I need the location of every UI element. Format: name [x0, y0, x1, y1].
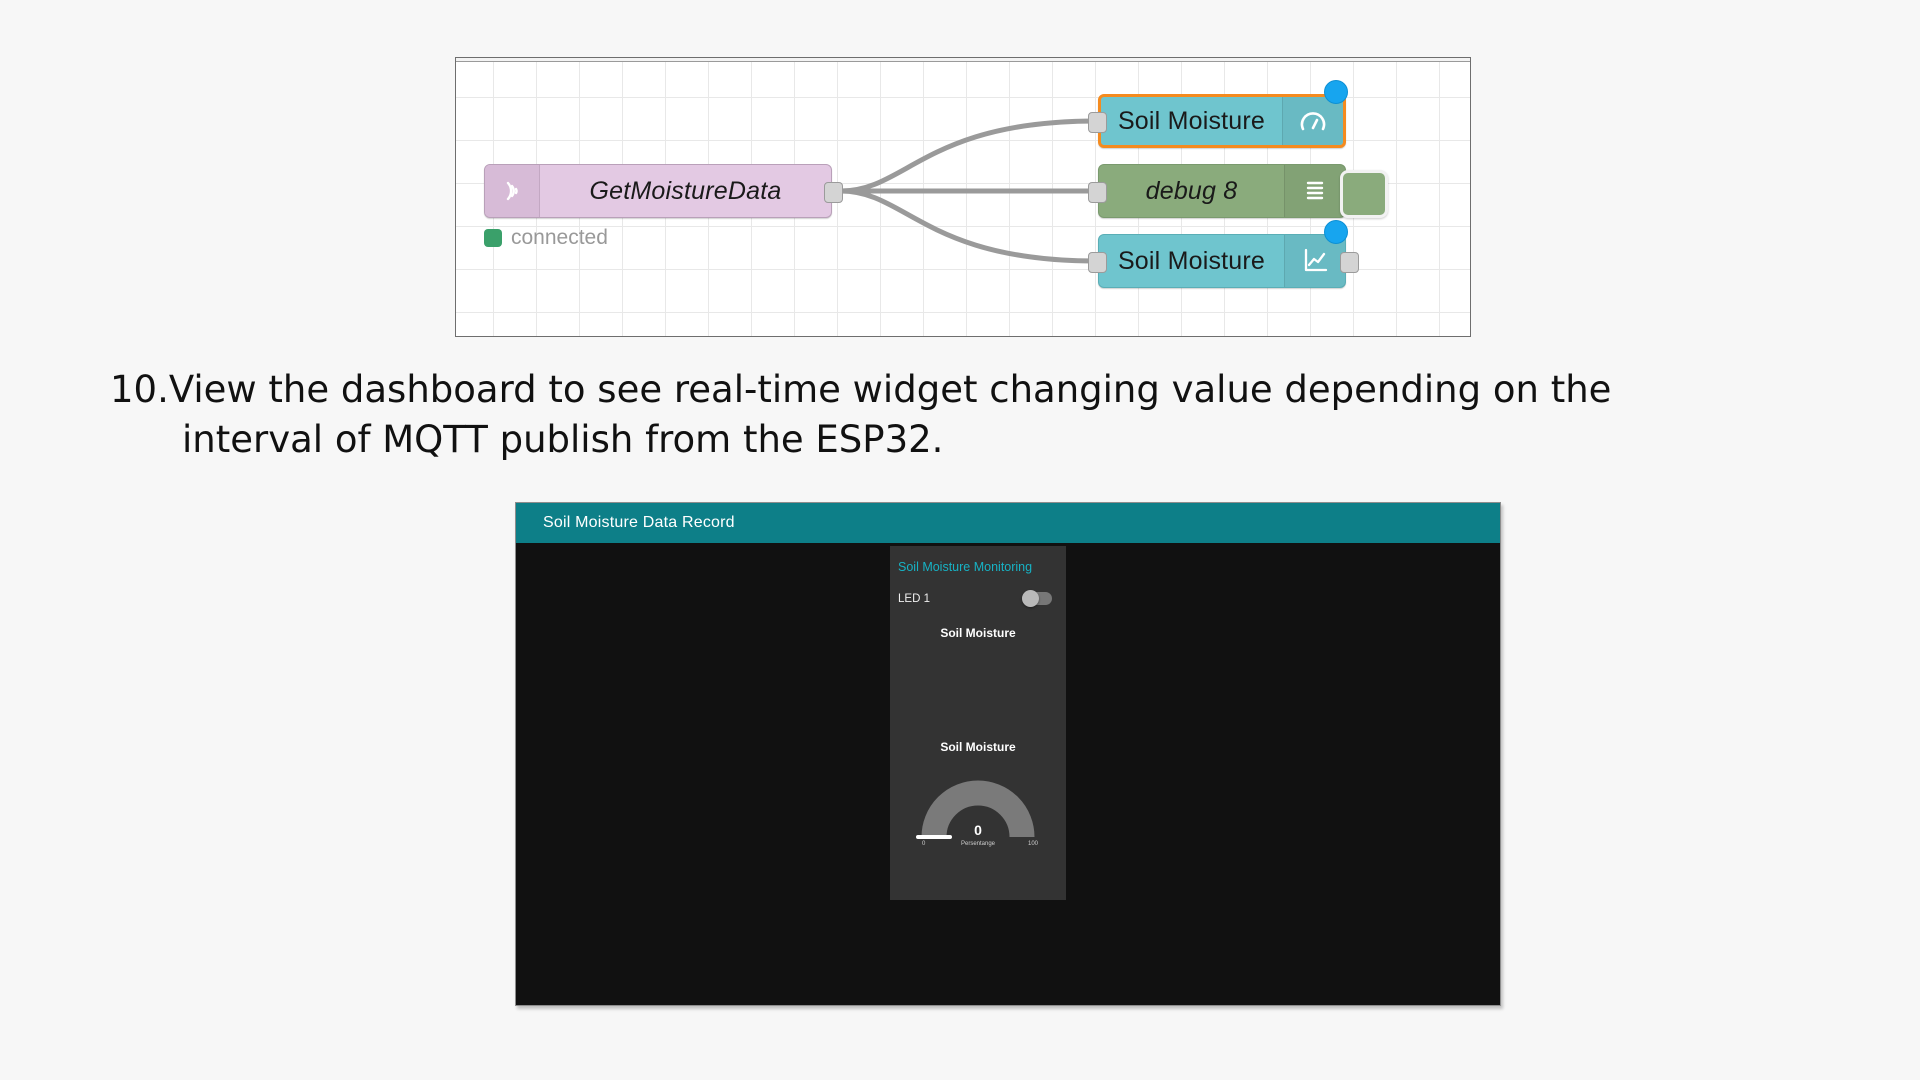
- gauge-widget: 0 Persentange 0 100: [890, 759, 1066, 859]
- gauge-value: 0: [890, 822, 1066, 838]
- gauge-icon: [1282, 97, 1343, 145]
- dashboard-link-dot-gauge: [1324, 80, 1348, 104]
- flow-node-status: connected: [484, 226, 608, 250]
- port-chart-out[interactable]: [1340, 252, 1359, 273]
- port-mqtt-out[interactable]: [824, 182, 843, 203]
- step-number: 10.: [110, 368, 169, 411]
- node-red-flow-screenshot: GetMoistureData connected Soil Moisture …: [455, 57, 1471, 337]
- dashboard-title: Soil Moisture Data Record: [543, 514, 735, 532]
- toggle-knob: [1022, 590, 1039, 607]
- step-text-line2: interval of MQTT publish from the ESP32.: [182, 415, 1870, 465]
- flow-node-gauge-label: Soil Moisture: [1101, 107, 1282, 136]
- mqtt-signal-icon: [485, 165, 540, 217]
- chart-widget-title: Soil Moisture: [890, 626, 1066, 640]
- flow-node-mqtt-in[interactable]: GetMoistureData: [484, 164, 832, 218]
- dashboard-card-soil-moisture: Soil Moisture Monitoring LED 1 Soil Mois…: [890, 546, 1066, 900]
- dashboard-header: Soil Moisture Data Record: [516, 503, 1500, 543]
- flow-node-debug-label: debug 8: [1099, 177, 1284, 206]
- flow-node-mqtt-in-label: GetMoistureData: [540, 177, 831, 206]
- led-label: LED 1: [898, 593, 930, 605]
- flow-node-gauge[interactable]: Soil Moisture: [1098, 94, 1346, 148]
- card-title: Soil Moisture Monitoring: [898, 560, 1066, 574]
- gauge-unit-label: Persentange: [890, 841, 1066, 847]
- gauge-widget-title: Soil Moisture: [890, 740, 1066, 754]
- debug-list-icon: [1284, 165, 1345, 217]
- dashboard-link-dot-chart: [1324, 220, 1348, 244]
- step-text-line1: View the dashboard to see real-time widg…: [169, 368, 1612, 411]
- led-control-row: LED 1: [898, 592, 1052, 605]
- led-toggle-switch[interactable]: [1022, 592, 1052, 605]
- gauge-min-label: 0: [922, 841, 925, 847]
- status-dot-icon: [484, 229, 502, 247]
- node-red-dashboard-screenshot: Soil Moisture Data Record Soil Moisture …: [515, 502, 1501, 1006]
- port-chart-in[interactable]: [1088, 252, 1107, 273]
- status-label: connected: [511, 226, 608, 250]
- instruction-step: 10.View the dashboard to see real-time w…: [110, 365, 1870, 466]
- flow-node-debug[interactable]: debug 8: [1098, 164, 1346, 218]
- debug-toggle-button[interactable]: [1340, 170, 1388, 218]
- flow-node-chart[interactable]: Soil Moisture: [1098, 234, 1346, 288]
- port-debug-in[interactable]: [1088, 182, 1107, 203]
- gauge-max-label: 100: [1028, 841, 1038, 847]
- port-gauge-in[interactable]: [1088, 112, 1107, 133]
- flow-node-chart-label: Soil Moisture: [1099, 247, 1284, 276]
- dashboard-body: Soil Moisture Monitoring LED 1 Soil Mois…: [516, 543, 1500, 1005]
